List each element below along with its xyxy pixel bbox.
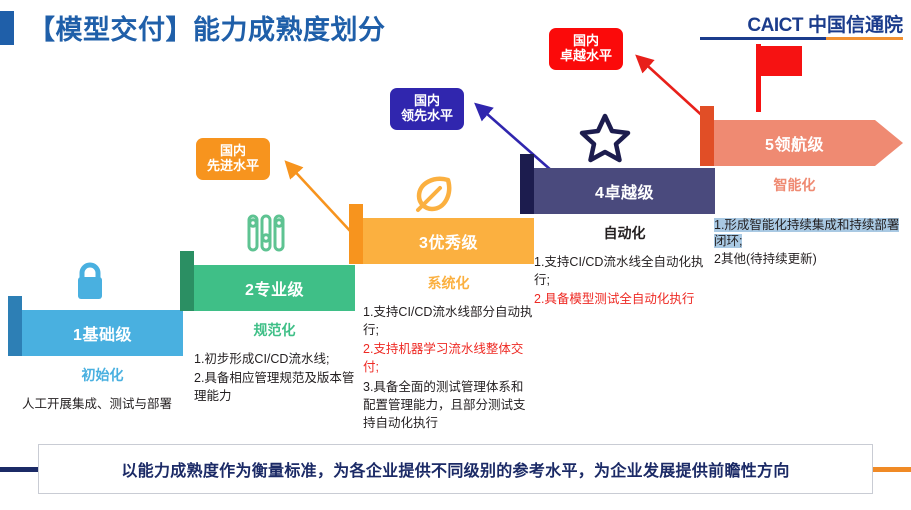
title-accent-bar (0, 11, 14, 45)
step-5-line-2: 2其他(待持续更新) (714, 251, 903, 267)
step-2-subtitle: 规范化 (180, 320, 355, 340)
step-2-body: 1.初步形成CI/CD流水线; 2.具备相应管理规范及版本管理能力 (180, 350, 355, 405)
step-3-subtitle: 系统化 (349, 273, 534, 293)
step-level-1[interactable]: 1基础级 初始化 人工开展集成、测试与部署 (8, 310, 183, 414)
step-level-5[interactable]: 5领航级 智能化 1.形成智能化持续集成和持续部署闭环; 2其他(待持续更新) (700, 120, 903, 268)
step-4-subtitle: 自动化 (520, 223, 715, 243)
step-1-ribbon: 1基础级 (8, 310, 183, 356)
star-icon (578, 112, 632, 169)
step-1-title: 1基础级 (22, 310, 183, 356)
callout-blue-line1: 国内 (401, 94, 453, 109)
step-level-4[interactable]: 4卓越级 自动化 1.支持CI/CD流水线全自动化执行; 2.具备模型测试全自动… (520, 168, 715, 309)
step-3-body: 1.支持CI/CD流水线部分自动执行; 2.支持机器学习流水线整体交付; 3.具… (349, 303, 534, 432)
step-4-line-1: 1.支持CI/CD流水线全自动化执行; (534, 253, 715, 289)
callout-red-line1: 国内 (560, 34, 612, 49)
page-title: 【模型交付】能力成熟度划分 (0, 8, 386, 47)
banner-text: 以能力成熟度作为衡量标准，为各企业提供不同级别的参考水平，为企业发展提供前瞻性方… (38, 444, 873, 494)
step-1-line-1: 人工开展集成、测试与部署 (22, 395, 183, 413)
step-3-line-3: 3.具备全面的测试管理体系和配置管理能力，且部分测试支持自动化执行 (363, 378, 534, 432)
step-5-ribbon: 5领航级 (700, 120, 903, 166)
step-level-2[interactable]: 2专业级 规范化 1.初步形成CI/CD流水线; 2.具备相应管理规范及版本管理… (180, 265, 355, 406)
step-5-fold (700, 106, 714, 166)
step-4-title: 4卓越级 (534, 168, 715, 214)
step-5-line-1: 1.形成智能化持续集成和持续部署闭环; (714, 218, 899, 248)
callout-blue-line2: 领先水平 (401, 109, 453, 124)
step-4-ribbon: 4卓越级 (520, 168, 715, 214)
lock-icon (70, 258, 110, 311)
step-2-fold (180, 251, 194, 311)
slide-root: 【模型交付】能力成熟度划分 CAICT 中国信通院 (0, 0, 911, 510)
callout-red-line2: 卓越水平 (560, 49, 612, 64)
callout-orange[interactable]: 国内 先进水平 (196, 138, 270, 180)
flag-icon (752, 42, 806, 119)
title-text: 【模型交付】能力成熟度划分 (28, 8, 386, 47)
caict-logo: CAICT 中国信通院 (747, 10, 903, 37)
step-4-body: 1.支持CI/CD流水线全自动化执行; 2.具备模型测试全自动化执行 (520, 253, 715, 308)
step-4-line-2: 2.具备模型测试全自动化执行 (534, 290, 715, 308)
callout-blue[interactable]: 国内 领先水平 (390, 88, 464, 130)
step-2-line-1: 1.初步形成CI/CD流水线; (194, 350, 355, 368)
step-3-line-1: 1.支持CI/CD流水线部分自动执行; (363, 303, 534, 339)
step-2-title: 2专业级 (194, 265, 355, 311)
step-2-ribbon: 2专业级 (180, 265, 355, 311)
step-4-fold (520, 154, 534, 214)
step-5-arrow-tip (875, 120, 903, 166)
step-5-subtitle: 智能化 (700, 175, 903, 195)
step-3-title: 3优秀级 (363, 218, 534, 264)
logo-en-text: CAICT (747, 15, 803, 37)
step-5-body: 1.形成智能化持续集成和持续部署闭环; 2其他(待持续更新) (700, 217, 903, 267)
logo-underline (700, 37, 903, 40)
step-3-line-2: 2.支持机器学习流水线整体交付; (363, 340, 534, 376)
leaf-icon (410, 174, 456, 221)
step-3-fold (349, 204, 363, 264)
bottom-banner-area: 以能力成熟度作为衡量标准，为各企业提供不同级别的参考水平，为企业发展提供前瞻性方… (0, 444, 911, 492)
logo-cn-text: 中国信通院 (808, 10, 903, 37)
step-1-fold (8, 296, 22, 356)
sliders-icon (243, 210, 289, 261)
step-2-line-2: 2.具备相应管理规范及版本管理能力 (194, 369, 355, 405)
callout-red[interactable]: 国内 卓越水平 (549, 28, 623, 70)
step-1-subtitle: 初始化 (8, 365, 183, 385)
step-1-body: 人工开展集成、测试与部署 (8, 395, 183, 413)
step-3-ribbon: 3优秀级 (349, 218, 534, 264)
callout-orange-line2: 先进水平 (207, 159, 259, 174)
step-level-3[interactable]: 3优秀级 系统化 1.支持CI/CD流水线部分自动执行; 2.支持机器学习流水线… (349, 218, 534, 433)
step-5-title: 5领航级 (714, 120, 875, 166)
callout-orange-line1: 国内 (207, 144, 259, 159)
